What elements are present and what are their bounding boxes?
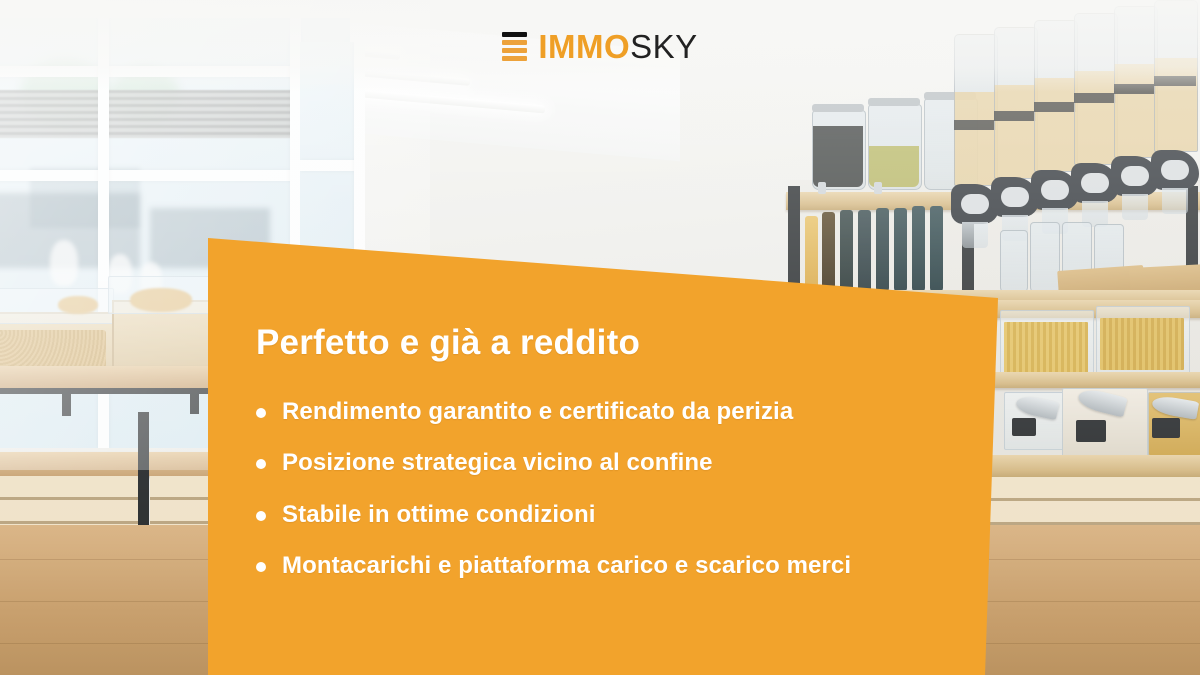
list-item-label: Rendimento garantito e certificato da pe… <box>282 398 793 426</box>
logo-bar-orange-icon <box>502 56 527 61</box>
dispenser-spout <box>1122 194 1148 220</box>
list-item-label: Stabile in ottime condizioni <box>282 501 595 529</box>
highlights-panel-content: Perfetto e già a reddito Rendimento gara… <box>208 238 998 675</box>
logo-bar-dark-icon <box>502 32 527 37</box>
shelf-board-bins <box>986 372 1200 388</box>
storage-jar <box>1000 230 1028 294</box>
slide-root: IMMOSKY Perfetto e già a reddito Rendime… <box>0 0 1200 675</box>
display-table-top <box>0 366 240 388</box>
jar-lid <box>868 98 920 106</box>
jar-contents-dark <box>813 126 863 187</box>
oil-bottle <box>822 212 835 292</box>
bin-label-plate <box>1012 418 1036 436</box>
table-leg <box>190 388 199 414</box>
logo-bar-orange-icon <box>502 40 527 45</box>
jar-tap <box>874 182 882 194</box>
bin-label-plate <box>1152 418 1180 438</box>
logo-bar-orange-icon <box>502 48 527 53</box>
table-leg <box>62 388 71 416</box>
logo-wordmark: IMMOSKY <box>538 30 697 63</box>
oil-bottle <box>858 210 871 292</box>
dispenser-band <box>1074 93 1116 103</box>
oil-bottle <box>840 210 853 292</box>
logo-text-sky: SKY <box>630 28 698 65</box>
dispenser-handle-hole <box>1081 173 1109 193</box>
counter-top <box>988 455 1200 477</box>
jar-lid <box>812 104 864 112</box>
dispenser-band <box>994 111 1036 121</box>
immosky-logo[interactable]: IMMOSKY <box>502 30 697 63</box>
immosky-bars-logo-mark <box>502 32 527 61</box>
dispenser-handle-hole <box>1161 160 1189 180</box>
table-frame <box>0 388 240 394</box>
list-item: Rendimento garantito e certificato da pe… <box>256 398 976 426</box>
jar-contents-olive <box>869 146 919 187</box>
bulk-nuts <box>0 330 106 368</box>
dispenser-handle-hole <box>1001 187 1029 207</box>
storage-jar <box>1030 222 1060 294</box>
bin-label-plate <box>1076 420 1106 442</box>
bread-loaf <box>130 288 192 312</box>
oil-bottle <box>894 208 907 292</box>
logo-text-immo: IMMO <box>538 28 630 65</box>
oil-bottle <box>930 206 943 292</box>
list-item: Stabile in ottime condizioni <box>256 501 976 529</box>
dispenser-handle-hole <box>1121 166 1149 186</box>
dispenser-spout <box>1162 188 1188 214</box>
list-item: Montacarichi e piattaforma carico e scar… <box>256 552 976 580</box>
jar-tap <box>818 182 826 194</box>
bulk-grain <box>1100 318 1184 370</box>
bullet-dot-icon <box>256 408 266 418</box>
oil-bottle <box>805 216 818 292</box>
list-item: Posizione strategica vicino al confine <box>256 449 976 477</box>
dispenser-band <box>954 120 996 130</box>
dispenser-handle-hole <box>1041 180 1069 200</box>
bullet-dot-icon <box>256 511 266 521</box>
bullet-dot-icon <box>256 562 266 572</box>
bread-loaf <box>58 296 98 314</box>
highlights-panel: Perfetto e già a reddito Rendimento gara… <box>208 238 998 675</box>
lower-shelf-top <box>0 452 240 476</box>
person-silhouette <box>50 240 78 286</box>
list-item-label: Montacarichi e piattaforma carico e scar… <box>282 552 851 580</box>
dispenser-spout <box>962 222 988 248</box>
oil-bottle <box>912 206 925 292</box>
highlights-list: Rendimento garantito e certificato da pe… <box>256 398 976 603</box>
list-item-label: Posizione strategica vicino al confine <box>282 449 713 477</box>
header-bar: IMMOSKY <box>0 0 1200 92</box>
window-louvre-blind <box>0 90 300 138</box>
oil-bottle <box>876 208 889 292</box>
bullet-dot-icon <box>256 459 266 469</box>
page-title: Perfetto e già a reddito <box>256 323 640 363</box>
dispenser-band <box>1034 102 1076 112</box>
bulk-grain <box>1004 322 1088 374</box>
dispenser-handle-hole <box>961 194 989 214</box>
